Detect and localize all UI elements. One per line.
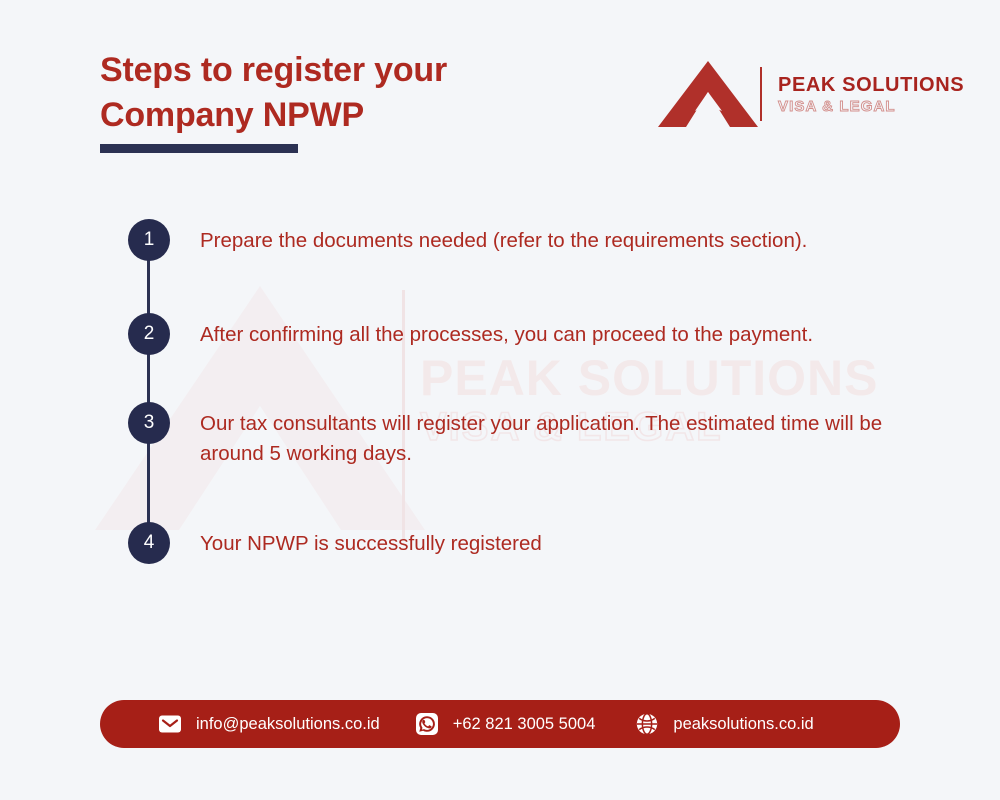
page-title: Steps to register your Company NPWP [100,48,447,138]
envelope-icon [158,712,182,736]
step-item: 4 Your NPWP is successfully registered [128,522,542,564]
step-number-badge: 1 [128,219,170,261]
logo-divider [760,67,762,121]
step-number-badge: 2 [128,313,170,355]
title-underline [100,144,298,153]
contact-phone-value: +62 821 3005 5004 [453,715,596,734]
step-item: 2 After confirming all the processes, yo… [128,313,813,355]
contact-email-value: info@peaksolutions.co.id [196,715,380,734]
footer-contact-bar: info@peaksolutions.co.id +62 821 3005 50… [100,700,900,748]
logo-text: PEAK SOLUTIONS VISA & LEGAL [778,72,964,117]
header: Steps to register your Company NPWP PEAK… [0,0,1000,170]
step-text: After confirming all the processes, you … [200,313,813,350]
contact-website-value: peaksolutions.co.id [673,715,813,734]
contact-email[interactable]: info@peaksolutions.co.id [158,712,380,736]
logo-tagline: VISA & LEGAL [778,98,964,117]
step-number-badge: 3 [128,402,170,444]
step-number-badge: 4 [128,522,170,564]
step-text: Prepare the documents needed (refer to t… [200,219,807,256]
step-item: 3 Our tax consultants will register your… [128,402,905,469]
page-title-line-1: Steps to register your [100,48,447,93]
contact-website[interactable]: peaksolutions.co.id [635,712,813,736]
contact-phone[interactable]: +62 821 3005 5004 [415,712,596,736]
timeline-connector-line [147,240,150,545]
peak-mountain-icon [658,59,758,129]
whatsapp-icon [415,712,439,736]
brand-logo: PEAK SOLUTIONS VISA & LEGAL [658,58,906,130]
step-text: Your NPWP is successfully registered [200,522,542,559]
infographic-canvas: PEAK SOLUTIONS VISA & LEGAL Steps to reg… [0,0,1000,800]
page-title-line-2: Company NPWP [100,93,447,138]
globe-icon [635,712,659,736]
step-text: Our tax consultants will register your a… [200,402,905,469]
logo-name: PEAK SOLUTIONS [778,74,964,96]
step-item: 1 Prepare the documents needed (refer to… [128,219,807,261]
